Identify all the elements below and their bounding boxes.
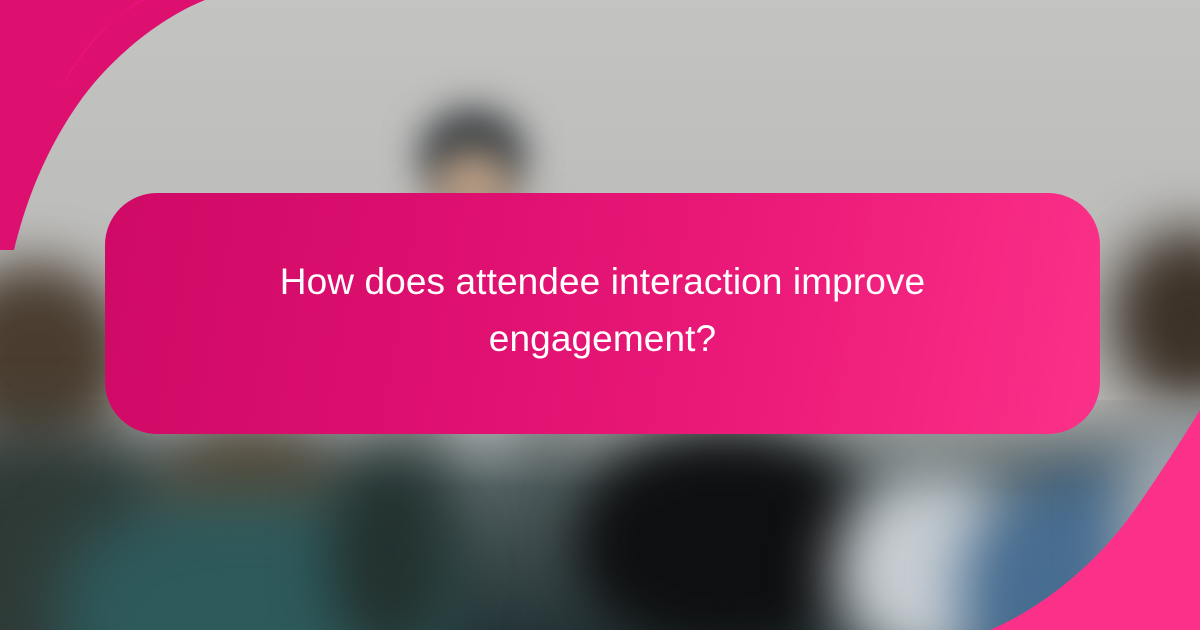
center-attendee-head-blur [575,432,875,630]
chair-back-blur [330,455,450,630]
headline-banner: How does attendee interaction improve en… [105,193,1100,434]
far-right-attendee-blur [1118,420,1200,630]
social-card-canvas: How does attendee interaction improve en… [0,0,1200,630]
headline-text: How does attendee interaction improve en… [253,254,953,366]
